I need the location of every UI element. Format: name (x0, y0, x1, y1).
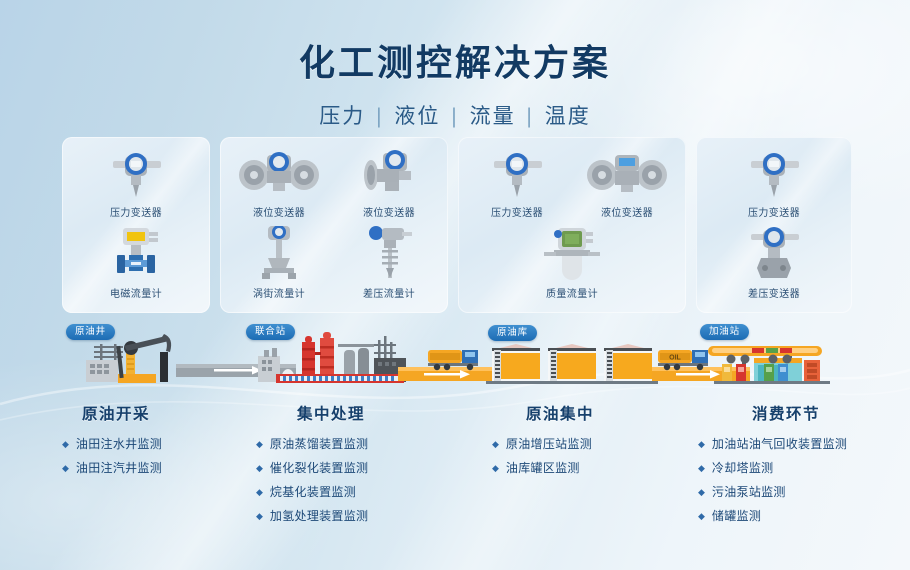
diamond-bullet-icon: ◆ (698, 437, 705, 452)
differential-pressure-transmitter-icon (743, 226, 805, 280)
subtitle-part-temperature: 温度 (545, 105, 591, 128)
subtitle-part-flow: 流量 (470, 105, 516, 128)
badge-gathering-station[interactable]: 联合站 (246, 324, 295, 340)
product-label: 电磁流量计 (110, 285, 162, 300)
list-item[interactable]: ◆ 储罐监测 (698, 509, 910, 524)
list-item[interactable]: ◆ 催化裂化装置监测 (256, 461, 450, 476)
gas-station-scene (708, 346, 830, 384)
diamond-bullet-icon: ◆ (698, 509, 705, 524)
product-label: 质量流量计 (546, 285, 598, 300)
diamond-bullet-icon: ◆ (256, 461, 263, 476)
list-item-label: 油田注水井监测 (76, 437, 162, 452)
list-item-label: 原油增压站监测 (506, 437, 592, 452)
stage-column-processing: 集中处理 ◆ 原油蒸馏装置监测 ◆ 催化裂化装置监测 ◆ 烷基化装置监测 ◆ 加… (218, 402, 450, 533)
product-label: 压力变送器 (110, 204, 162, 219)
stage-title: 原油开采 (62, 402, 218, 424)
list-item[interactable]: ◆ 冷却塔监测 (698, 461, 910, 476)
badge-oil-depot[interactable]: 原油库 (488, 325, 537, 341)
oilfield-scene (86, 334, 171, 383)
stage-column-extraction: 原油开采 ◆ 油田注水井监测 ◆ 油田注汽井监测 (0, 402, 218, 533)
product-item[interactable]: 液位变送器 (227, 145, 331, 219)
diamond-bullet-icon: ◆ (698, 461, 705, 476)
list-item[interactable]: ◆ 原油增压站监测 (492, 437, 670, 452)
diamond-bullet-icon: ◆ (256, 437, 263, 452)
subtitle-separator: | (376, 105, 383, 128)
product-card-row: 压力变送器 (62, 137, 852, 313)
list-item-label: 储罐监测 (712, 509, 761, 524)
stage-title: 原油集中 (492, 402, 670, 424)
page-header: 化工测控解决方案 压力 | 液位 | 流量 | 温度 (0, 34, 910, 130)
product-label: 压力变送器 (748, 204, 800, 219)
vortex-flowmeter-icon (248, 226, 310, 280)
subtitle-part-level: 液位 (394, 105, 440, 128)
list-item-label: 污油泵站监测 (712, 485, 786, 500)
diamond-bullet-icon: ◆ (698, 485, 705, 500)
product-label: 差压流量计 (363, 285, 415, 300)
electromagnetic-flowmeter-icon (105, 226, 167, 280)
pressure-transmitter-icon (105, 145, 167, 199)
stage-title: 消费环节 (698, 402, 910, 424)
list-item[interactable]: ◆ 加氢处理装置监测 (256, 509, 450, 524)
stage-title: 集中处理 (256, 402, 450, 424)
page-title: 化工测控解决方案 (0, 34, 910, 86)
truck-oil-label: OIL (669, 355, 681, 362)
list-item[interactable]: ◆ 烷基化装置监测 (256, 485, 450, 500)
diamond-bullet-icon: ◆ (256, 509, 263, 524)
list-item[interactable]: ◆ 原油蒸馏装置监测 (256, 437, 450, 452)
product-item[interactable]: 压力变送器 (84, 145, 188, 219)
stage-column-storage: 原油集中 ◆ 原油增压站监测 ◆ 油库罐区监测 (450, 402, 670, 533)
product-item[interactable]: 涡街流量计 (227, 226, 331, 300)
pressure-transmitter-icon (743, 145, 805, 199)
product-label: 液位变送器 (601, 204, 653, 219)
subtitle-separator: | (451, 105, 458, 128)
list-item[interactable]: ◆ 油库罐区监测 (492, 461, 670, 476)
product-label: 液位变送器 (363, 204, 415, 219)
product-item[interactable]: 液位变送器 (575, 145, 679, 219)
differential-pressure-flowmeter-icon (358, 226, 420, 280)
product-item[interactable]: 质量流量计 (520, 226, 624, 300)
product-card-pressure-differential[interactable]: 压力变送器 (696, 137, 852, 313)
process-flow-scene: 原油井 联合站 原油库 加油站 (0, 322, 910, 407)
product-item[interactable]: 差压变送器 (722, 226, 826, 300)
product-card-pressure-flow[interactable]: 压力变送器 (62, 137, 210, 313)
stage-item-list: ◆ 油田注水井监测 ◆ 油田注汽井监测 (62, 437, 218, 476)
stage-item-list: ◆ 原油蒸馏装置监测 ◆ 催化裂化装置监测 ◆ 烷基化装置监测 ◆ 加氢处理装置… (256, 437, 450, 524)
product-item[interactable]: 压力变送器 (722, 145, 826, 219)
product-item[interactable]: 电磁流量计 (84, 226, 188, 300)
pressure-transmitter-icon (486, 145, 548, 199)
list-item[interactable]: ◆ 油田注汽井监测 (62, 461, 218, 476)
page-subtitle: 压力 | 液位 | 流量 | 温度 (0, 100, 910, 130)
product-item[interactable]: 差压流量计 (337, 226, 441, 300)
diamond-bullet-icon: ◆ (492, 461, 499, 476)
product-item[interactable]: 压力变送器 (465, 145, 569, 219)
level-transmitter-single-flange-icon (353, 145, 425, 199)
diamond-bullet-icon: ◆ (62, 461, 69, 476)
list-item[interactable]: ◆ 油田注水井监测 (62, 437, 218, 452)
list-item-label: 烷基化装置监测 (270, 485, 356, 500)
list-item[interactable]: ◆ 污油泵站监测 (698, 485, 910, 500)
diamond-bullet-icon: ◆ (62, 437, 69, 452)
flow-illustration: OIL (0, 322, 910, 407)
diamond-bullet-icon: ◆ (256, 485, 263, 500)
mass-flowmeter-icon (536, 226, 608, 280)
list-item-label: 原油蒸馏装置监测 (270, 437, 368, 452)
level-transmitter-double-flange-icon (585, 145, 669, 199)
list-item-label: 加氢处理装置监测 (270, 509, 368, 524)
list-item-label: 催化裂化装置监测 (270, 461, 368, 476)
product-card-pressure-level-mass[interactable]: 压力变送器 (458, 137, 686, 313)
product-card-level-flow[interactable]: 液位变送器 (220, 137, 448, 313)
level-transmitter-double-flange-icon (237, 145, 321, 199)
badge-oil-well[interactable]: 原油井 (66, 324, 115, 340)
stage-item-list: ◆ 加油站油气回收装置监测 ◆ 冷却塔监测 ◆ 污油泵站监测 ◆ 储罐监测 (698, 437, 910, 524)
product-item[interactable]: 液位变送器 (337, 145, 441, 219)
list-item-label: 加油站油气回收装置监测 (712, 437, 847, 452)
stage-item-list: ◆ 原油增压站监测 ◆ 油库罐区监测 (492, 437, 670, 476)
diamond-bullet-icon: ◆ (492, 437, 499, 452)
product-label: 液位变送器 (253, 204, 305, 219)
product-label: 差压变送器 (748, 285, 800, 300)
subtitle-part-pressure: 压力 (319, 105, 365, 128)
product-label: 涡街流量计 (253, 285, 305, 300)
list-item-label: 油田注汽井监测 (76, 461, 162, 476)
list-item-label: 冷却塔监测 (712, 461, 774, 476)
product-label: 压力变送器 (491, 204, 543, 219)
stage-column-consumption: 消费环节 ◆ 加油站油气回收装置监测 ◆ 冷却塔监测 ◆ 污油泵站监测 ◆ 储罐… (670, 402, 910, 533)
list-item[interactable]: ◆ 加油站油气回收装置监测 (698, 437, 910, 452)
stage-columns: 原油开采 ◆ 油田注水井监测 ◆ 油田注汽井监测 集中处理 ◆ 原油蒸馏装置监测… (0, 402, 910, 533)
oil-depot-scene (486, 344, 658, 384)
list-item-label: 油库罐区监测 (506, 461, 580, 476)
badge-gas-station[interactable]: 加油站 (700, 324, 749, 340)
subtitle-separator: | (526, 105, 533, 128)
